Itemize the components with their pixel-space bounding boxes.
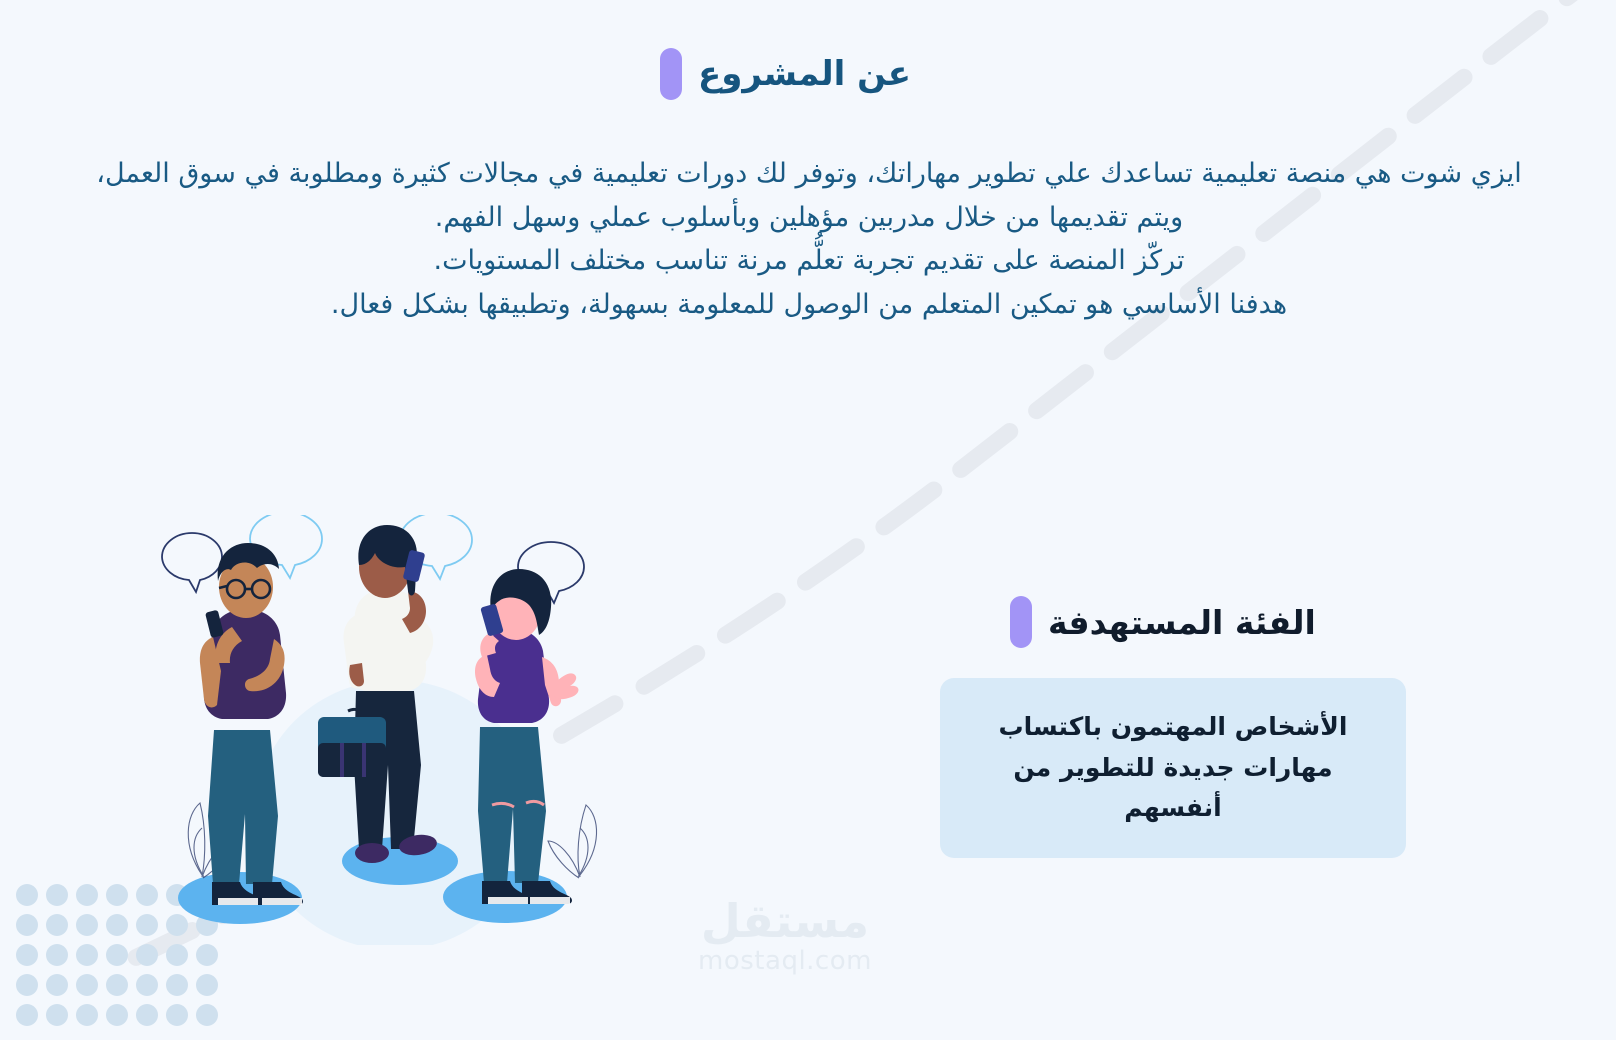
target-audience-heading-group: الفئة المستهدفة — [1010, 596, 1316, 648]
about-line-1: ايزي شوت هي منصة تعليمية تساعدك علي تطوي… — [88, 152, 1530, 239]
about-line-3: هدفنا الأساسي هو تمكين المتعلم من الوصول… — [88, 283, 1530, 327]
target-audience-card: الأشخاص المهتمون باكتساب مهارات جديدة لل… — [940, 678, 1406, 858]
about-paragraph: ايزي شوت هي منصة تعليمية تساعدك علي تطوي… — [88, 152, 1530, 327]
about-heading-text: عن المشروع — [698, 54, 911, 94]
plant-icon — [548, 805, 597, 878]
briefcase-icon — [318, 709, 386, 777]
accent-bar-icon — [1010, 596, 1032, 648]
slide-root: عن المشروع ايزي شوت هي منصة تعليمية تساع… — [0, 0, 1616, 1040]
target-audience-card-text: الأشخاص المهتمون باكتساب مهارات جديدة لل… — [940, 707, 1406, 829]
mostaql-watermark: مستقل mostaql.com — [660, 898, 910, 979]
smartphone-icon — [205, 610, 224, 638]
about-heading-group: عن المشروع — [660, 48, 911, 100]
person-right — [475, 569, 578, 904]
watermark-latin-text: mostaql.com — [660, 944, 910, 979]
speech-bubble-icon — [162, 533, 222, 592]
watermark-arabic-text: مستقل — [660, 898, 910, 944]
target-audience-heading-text: الفئة المستهدفة — [1048, 603, 1316, 642]
accent-bar-icon — [660, 48, 682, 100]
about-line-2: تركّز المنصة على تقديم تجربة تعلُّم مرنة… — [88, 239, 1530, 283]
illustration-three-people-on-phones — [150, 515, 650, 945]
